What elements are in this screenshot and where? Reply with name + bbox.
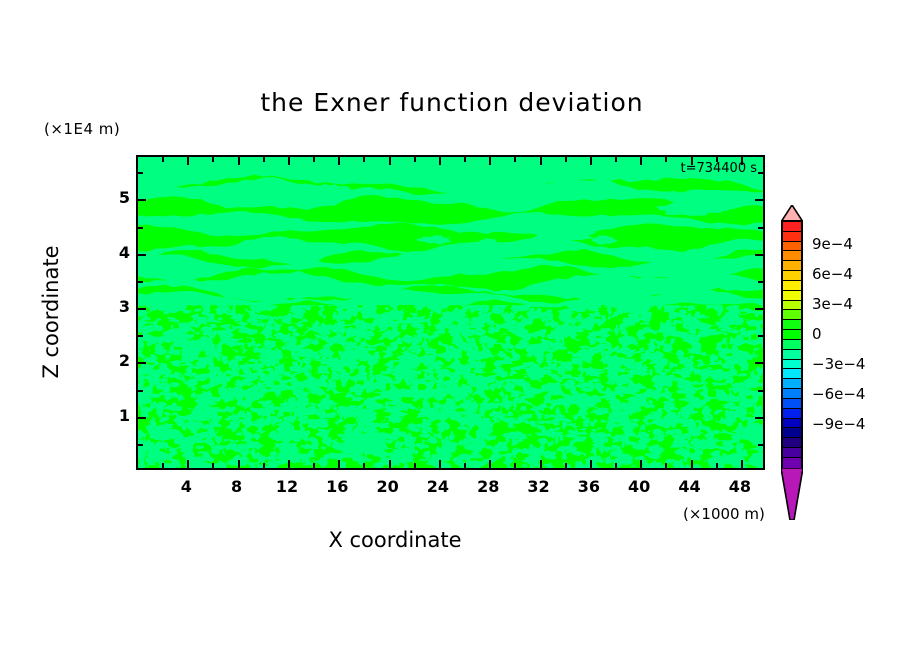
x-minor-tick bbox=[212, 463, 214, 468]
x-tick-label: 44 bbox=[670, 477, 710, 496]
colorbar-band bbox=[783, 251, 801, 261]
y-minor-tick bbox=[758, 335, 763, 337]
x-minor-tick bbox=[565, 463, 567, 468]
y-tick-mark bbox=[755, 254, 763, 256]
colorbar-band bbox=[783, 301, 801, 311]
x-minor-tick bbox=[313, 157, 315, 162]
colorbar-band bbox=[783, 389, 801, 399]
colorbar-label: −6e−4 bbox=[812, 385, 865, 403]
x-minor-tick bbox=[162, 463, 164, 468]
turbulence-cell bbox=[394, 407, 401, 416]
x-tick-label: 16 bbox=[317, 477, 357, 496]
colorbar-band bbox=[783, 458, 801, 468]
contour-field bbox=[138, 157, 763, 468]
x-tick-mark bbox=[439, 157, 441, 165]
x-minor-tick bbox=[665, 157, 667, 162]
colorbar-band bbox=[783, 242, 801, 252]
x-minor-tick bbox=[464, 463, 466, 468]
turbulence-cell bbox=[523, 414, 533, 419]
y-tick-mark bbox=[755, 308, 763, 310]
colorbar-band bbox=[783, 369, 801, 379]
chart-title: the Exner function deviation bbox=[0, 88, 904, 117]
colorbar-label: 9e−4 bbox=[812, 235, 853, 253]
colorbar-band bbox=[783, 340, 801, 350]
x-tick-label: 48 bbox=[720, 477, 760, 496]
turbulence-cell bbox=[741, 362, 749, 371]
x-minor-tick bbox=[414, 463, 416, 468]
x-tick-mark bbox=[338, 157, 340, 165]
x-tick-mark bbox=[540, 157, 542, 165]
colorbar-label: 6e−4 bbox=[812, 265, 853, 283]
colorbar-band bbox=[783, 320, 801, 330]
colorbar-band bbox=[783, 409, 801, 419]
x-tick-mark bbox=[741, 460, 743, 468]
y-minor-tick bbox=[138, 444, 143, 446]
x-tick-mark bbox=[238, 460, 240, 468]
y-tick-mark bbox=[138, 199, 146, 201]
x-minor-tick bbox=[514, 157, 516, 162]
y-minor-tick bbox=[758, 390, 763, 392]
y-minor-tick bbox=[758, 281, 763, 283]
colorbar-band bbox=[783, 350, 801, 360]
colorbar-label: −9e−4 bbox=[812, 415, 865, 433]
colorbar-band bbox=[783, 222, 801, 232]
x-minor-tick bbox=[363, 157, 365, 162]
x-tick-mark bbox=[288, 157, 290, 165]
x-tick-mark bbox=[691, 460, 693, 468]
colorbar-band bbox=[783, 291, 801, 301]
x-axis-unit-label: (×1000 m) bbox=[683, 505, 765, 523]
x-tick-mark bbox=[590, 460, 592, 468]
x-minor-tick bbox=[263, 463, 265, 468]
y-tick-mark bbox=[138, 254, 146, 256]
x-tick-mark bbox=[187, 157, 189, 165]
x-tick-mark bbox=[489, 157, 491, 165]
x-tick-label: 24 bbox=[418, 477, 458, 496]
colorbar-band bbox=[783, 448, 801, 458]
y-minor-tick bbox=[138, 227, 143, 229]
colorbar-band bbox=[783, 360, 801, 370]
turbulence-cell bbox=[560, 353, 573, 362]
x-tick-mark bbox=[288, 460, 290, 468]
x-tick-mark bbox=[540, 460, 542, 468]
time-annotation: t=734400 s bbox=[680, 161, 757, 176]
colorbar-band bbox=[783, 379, 801, 389]
colorbar-band bbox=[783, 271, 801, 281]
colorbar-band bbox=[783, 399, 801, 409]
x-minor-tick bbox=[514, 463, 516, 468]
plot-area: t=734400 s bbox=[136, 155, 765, 470]
x-tick-mark bbox=[640, 460, 642, 468]
y-minor-tick bbox=[758, 444, 763, 446]
y-tick-mark bbox=[138, 308, 146, 310]
turbulence-cell bbox=[260, 363, 264, 368]
colorbar-band bbox=[783, 310, 801, 320]
y-tick-label: 5 bbox=[100, 188, 130, 207]
x-minor-tick bbox=[716, 463, 718, 468]
x-minor-tick bbox=[615, 157, 617, 162]
colorbar-band bbox=[783, 330, 801, 340]
colorbar-label: 3e−4 bbox=[812, 295, 853, 313]
y-axis-unit-label: (×1E4 m) bbox=[44, 120, 120, 138]
y-tick-label: 4 bbox=[100, 243, 130, 262]
x-tick-label: 8 bbox=[217, 477, 257, 496]
y-minor-tick bbox=[758, 172, 763, 174]
x-tick-label: 20 bbox=[368, 477, 408, 496]
colorbar-under-cap bbox=[781, 468, 803, 520]
x-minor-tick bbox=[565, 157, 567, 162]
colorbar-label: 0 bbox=[812, 325, 822, 343]
y-minor-tick bbox=[138, 390, 143, 392]
turbulence-cell bbox=[331, 373, 339, 381]
x-tick-label: 40 bbox=[619, 477, 659, 496]
colorbar-band bbox=[783, 438, 801, 448]
x-tick-mark bbox=[338, 460, 340, 468]
x-minor-tick bbox=[313, 463, 315, 468]
turbulence-cell bbox=[383, 331, 390, 338]
x-tick-label: 32 bbox=[519, 477, 559, 496]
x-minor-tick bbox=[363, 463, 365, 468]
colorbar-band bbox=[783, 232, 801, 242]
y-minor-tick bbox=[138, 172, 143, 174]
x-minor-tick bbox=[162, 157, 164, 162]
x-axis-title: X coordinate bbox=[0, 528, 790, 552]
x-tick-label: 4 bbox=[166, 477, 206, 496]
turbulence-cell bbox=[433, 402, 441, 408]
y-tick-mark bbox=[138, 417, 146, 419]
x-tick-mark bbox=[187, 460, 189, 468]
x-tick-mark bbox=[489, 460, 491, 468]
turbulence-cell bbox=[652, 446, 662, 454]
colorbar-label: −3e−4 bbox=[812, 355, 865, 373]
turbulence-cell bbox=[653, 429, 662, 434]
colorbar-band bbox=[783, 281, 801, 291]
x-minor-tick bbox=[414, 157, 416, 162]
colorbar-band bbox=[783, 428, 801, 438]
x-minor-tick bbox=[212, 157, 214, 162]
y-tick-mark bbox=[755, 417, 763, 419]
x-tick-label: 36 bbox=[569, 477, 609, 496]
x-tick-mark bbox=[389, 157, 391, 165]
y-tick-label: 2 bbox=[100, 351, 130, 370]
x-tick-mark bbox=[640, 157, 642, 165]
y-minor-tick bbox=[758, 227, 763, 229]
y-tick-label: 1 bbox=[100, 406, 130, 425]
x-tick-label: 28 bbox=[468, 477, 508, 496]
colorbar[interactable] bbox=[781, 220, 803, 470]
x-tick-mark bbox=[590, 157, 592, 165]
colorbar-band bbox=[783, 419, 801, 429]
x-minor-tick bbox=[665, 463, 667, 468]
x-minor-tick bbox=[464, 157, 466, 162]
y-tick-label: 3 bbox=[100, 297, 130, 316]
y-tick-labels: 12345 bbox=[96, 155, 130, 470]
y-tick-mark bbox=[138, 362, 146, 364]
turbulence-cell bbox=[415, 443, 422, 447]
x-minor-tick bbox=[615, 463, 617, 468]
y-tick-mark bbox=[755, 362, 763, 364]
colorbar-band bbox=[783, 261, 801, 271]
x-tick-label: 12 bbox=[267, 477, 307, 496]
x-tick-mark bbox=[389, 460, 391, 468]
x-tick-mark bbox=[439, 460, 441, 468]
x-minor-tick bbox=[263, 157, 265, 162]
x-tick-mark bbox=[238, 157, 240, 165]
y-axis-title: Z coordinate bbox=[39, 222, 63, 402]
y-minor-tick bbox=[138, 335, 143, 337]
y-minor-tick bbox=[138, 281, 143, 283]
y-tick-mark bbox=[755, 199, 763, 201]
